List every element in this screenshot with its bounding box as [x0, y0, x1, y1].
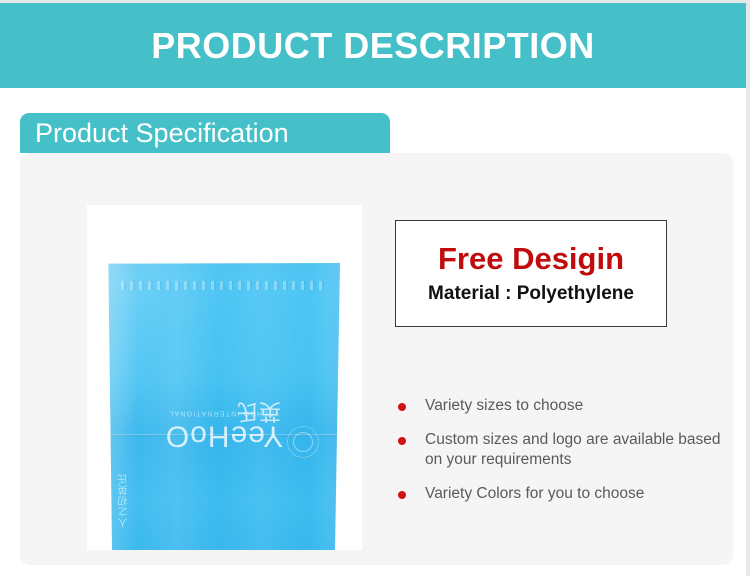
bag-crease-line	[107, 434, 340, 437]
bag-seal-icon	[287, 426, 319, 458]
product-photo: YeeHoO YEEHOO INTERNATIONAL 英氏 人之初英氏	[87, 205, 362, 550]
bag-side-chinese: 人之初英氏	[117, 473, 132, 528]
poly-mailer-bag-image: YeeHoO YEEHOO INTERNATIONAL 英氏 人之初英氏	[107, 263, 340, 550]
list-item-label: Variety Colors for you to choose	[425, 484, 644, 503]
list-item: Variety Colors for you to choose	[398, 484, 723, 503]
header-banner: PRODUCT DESCRIPTION	[0, 3, 746, 88]
bullet-icon	[398, 403, 406, 411]
list-item-label: Custom sizes and logo are available base…	[425, 430, 723, 469]
bag-sheen-overlay	[107, 263, 340, 550]
free-design-callout: Free Desigin Material : Polyethylene	[395, 220, 667, 327]
callout-headline: Free Desigin	[438, 242, 624, 276]
bullet-icon	[398, 491, 406, 499]
bullet-icon	[398, 437, 406, 445]
list-item-label: Variety sizes to choose	[425, 396, 583, 415]
bag-brand-name: YeeHoO	[164, 419, 282, 451]
product-description-page: PRODUCT DESCRIPTION Product Specificatio…	[0, 0, 750, 576]
feature-list: Variety sizes to choose Custom sizes and…	[398, 396, 723, 504]
callout-material-label: Material : Polyethylene	[428, 284, 634, 305]
bag-brand-chinese: 英氏	[237, 400, 281, 422]
section-tab-product-specification: Product Specification	[20, 113, 390, 153]
section-tab-label: Product Specification	[20, 120, 289, 147]
page-title: PRODUCT DESCRIPTION	[151, 28, 595, 64]
bag-perforation-strip	[121, 281, 326, 290]
bag-brand-subtitle: YEEHOO INTERNATIONAL	[164, 408, 282, 416]
list-item: Custom sizes and logo are available base…	[398, 430, 723, 469]
specification-panel: YeeHoO YEEHOO INTERNATIONAL 英氏 人之初英氏 Fre…	[20, 153, 733, 565]
list-item: Variety sizes to choose	[398, 396, 723, 415]
page-right-border	[746, 0, 750, 576]
bag-brand-mark: YeeHoO YEEHOO INTERNATIONAL	[164, 408, 282, 451]
